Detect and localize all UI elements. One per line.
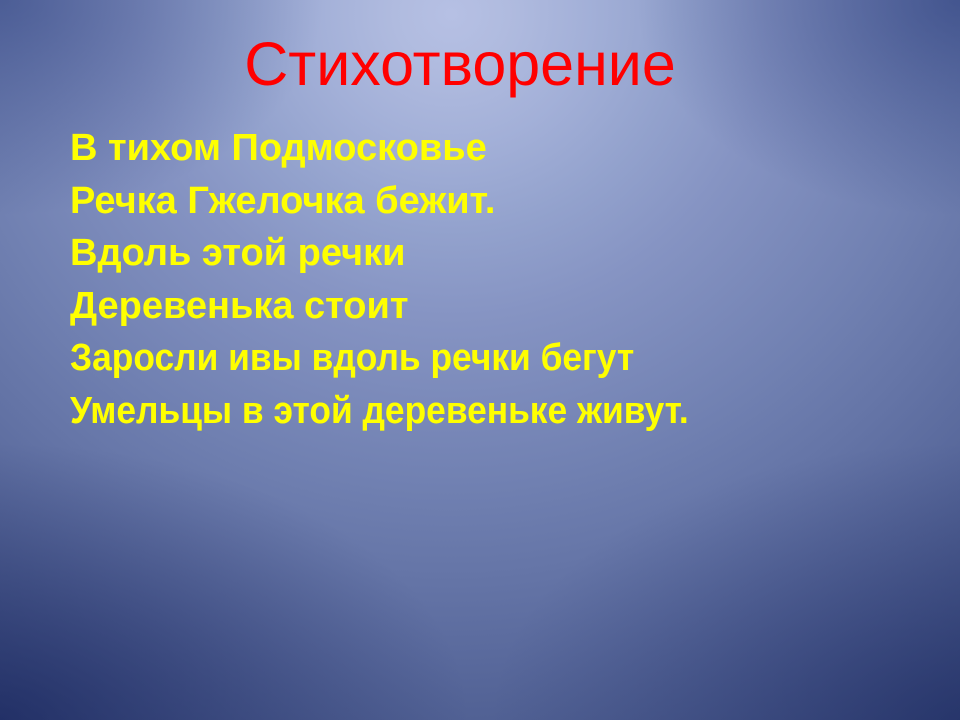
slide-canvas: Стихотворение В тихом Подмосковье Речка … bbox=[0, 0, 960, 720]
poem-line: Деревенька стоит bbox=[70, 280, 930, 333]
poem-line: Умельцы в этой деревеньке живут. bbox=[70, 385, 870, 438]
poem-line: Заросли ивы вдоль речки бегут bbox=[70, 332, 870, 385]
slide-title: Стихотворение bbox=[0, 34, 920, 95]
poem-line: В тихом Подмосковье bbox=[70, 122, 930, 175]
poem-line: Вдоль этой речки bbox=[70, 227, 930, 280]
poem-line: Речка Гжелочка бежит. bbox=[70, 175, 930, 228]
poem-body: В тихом Подмосковье Речка Гжелочка бежит… bbox=[70, 122, 930, 437]
